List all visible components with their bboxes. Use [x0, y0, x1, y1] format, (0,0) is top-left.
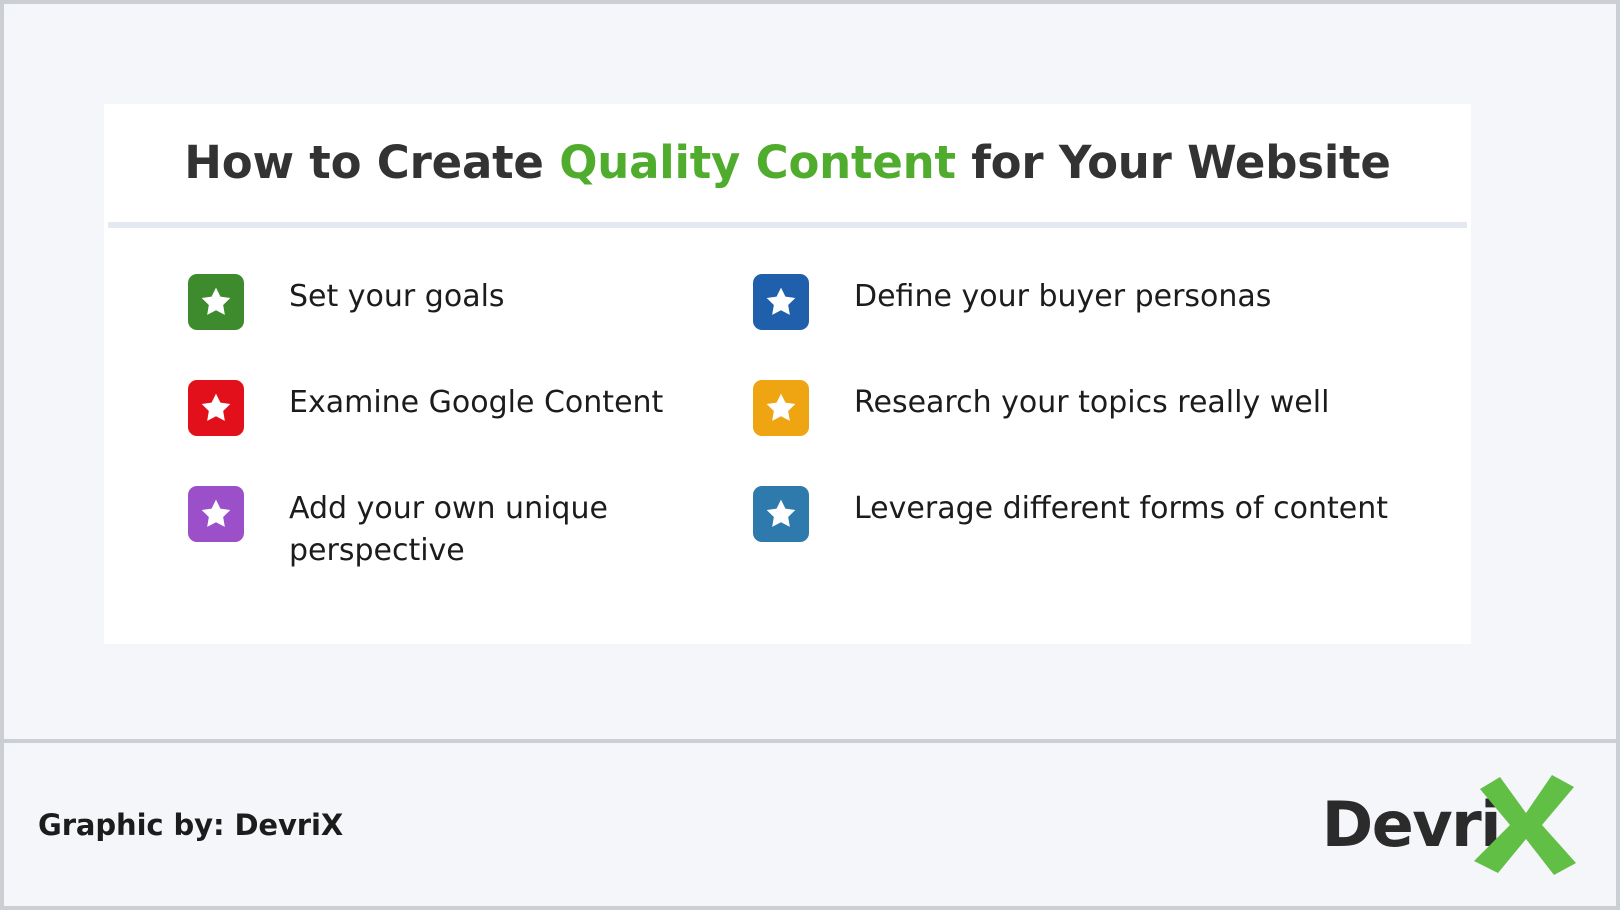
list-item-label: Set your goals: [289, 272, 505, 318]
card-header: How to Create Quality Content for Your W…: [104, 104, 1471, 222]
star-tile: [753, 274, 809, 330]
list-item-label: Research your topics really well: [854, 378, 1329, 424]
page-title-part2: for Your Website: [956, 136, 1391, 189]
list-item: Define your buyer personas: [753, 272, 1461, 378]
star-tile: [753, 380, 809, 436]
page-title-part1: How to Create: [184, 136, 559, 189]
list-item-label: Define your buyer personas: [854, 272, 1271, 318]
star-icon: [763, 390, 799, 426]
star-tile: [188, 486, 244, 542]
list-item-label: Leverage different forms of content: [854, 484, 1388, 530]
list-item: Leverage different forms of content: [753, 484, 1461, 590]
list-item-label: Examine Google Content: [289, 378, 663, 424]
list-item: Set your goals: [188, 272, 753, 378]
list-item-label: Add your own unique perspective: [289, 484, 729, 572]
star-icon: [198, 284, 234, 320]
credit-text: Graphic by: DevriX: [38, 808, 343, 842]
star-icon: [763, 284, 799, 320]
infographic-root: How to Create Quality Content for Your W…: [0, 0, 1620, 910]
card-body: Set your goals Examine Google Content: [104, 228, 1471, 644]
star-icon: [198, 496, 234, 532]
star-icon: [198, 390, 234, 426]
page-title-accent: Quality Content: [559, 136, 956, 189]
star-tile: [753, 486, 809, 542]
list-item: Add your own unique perspective: [188, 484, 753, 590]
star-icon: [763, 496, 799, 532]
tips-column-right: Define your buyer personas Research your…: [753, 272, 1461, 590]
infographic-body: How to Create Quality Content for Your W…: [4, 4, 1616, 739]
devrix-logo: Devri: [1322, 770, 1582, 880]
tips-column-left: Set your goals Examine Google Content: [188, 272, 753, 590]
star-tile: [188, 274, 244, 330]
list-item: Research your topics really well: [753, 378, 1461, 484]
content-card: How to Create Quality Content for Your W…: [104, 104, 1471, 644]
star-tile: [188, 380, 244, 436]
page-title: How to Create Quality Content for Your W…: [184, 137, 1390, 189]
x-brushstroke-icon: [1470, 773, 1578, 877]
footer: Graphic by: DevriX Devri: [4, 739, 1616, 906]
tips-columns: Set your goals Examine Google Content: [104, 272, 1471, 590]
list-item: Examine Google Content: [188, 378, 753, 484]
